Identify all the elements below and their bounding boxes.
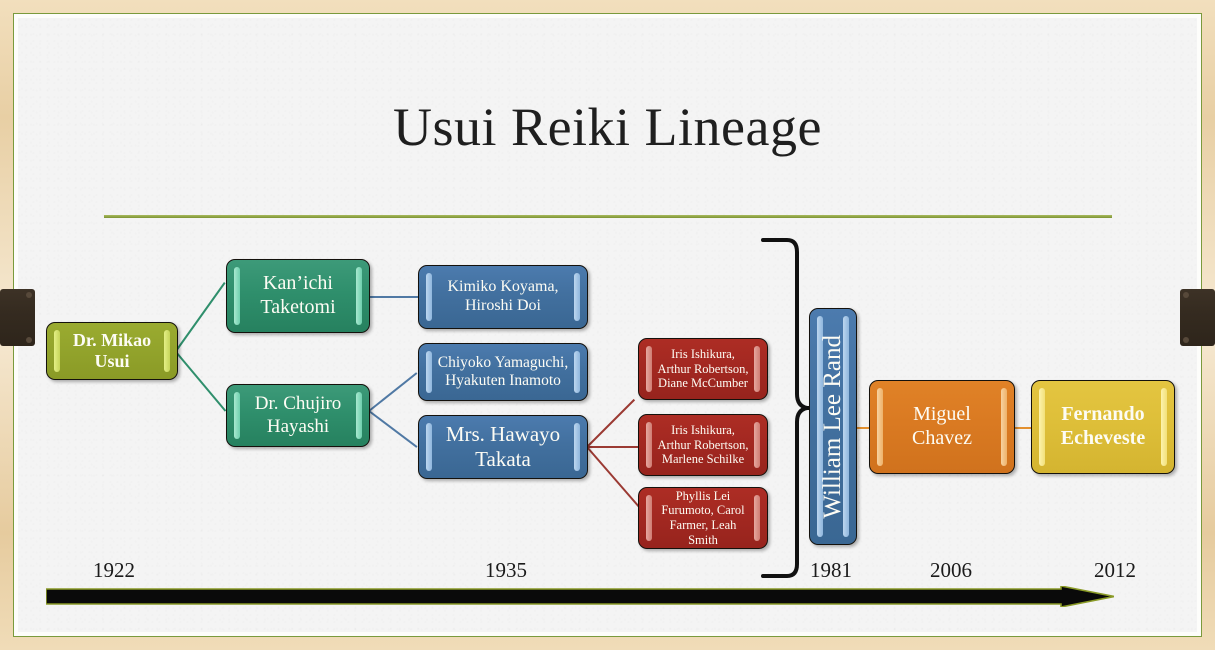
- node-takata-label: Mrs. HawayoTakata: [430, 422, 576, 472]
- node-echeveste-label: FernandoEcheveste: [1045, 403, 1161, 450]
- connector-takata-schilke: [587, 446, 639, 448]
- node-chavez-label: MiguelChavez: [896, 403, 988, 450]
- node-schilke[interactable]: Iris Ishikura,Arthur Robertson,Marlene S…: [638, 414, 768, 476]
- node-mccumber[interactable]: Iris Ishikura,Arthur Robertson,Diane McC…: [638, 338, 768, 400]
- node-taketomi-label: Kan’ichiTaketomi: [244, 272, 351, 319]
- timeline-date-2006: 2006: [930, 558, 972, 583]
- slide: Usui Reiki Lineage Dr. MikaoUsui Kan’ich…: [0, 0, 1215, 650]
- node-furumoto-label: Phyllis LeiFurumoto, CarolFarmer, Leah S…: [639, 489, 767, 548]
- ribbon-tab-right: [1180, 289, 1215, 346]
- node-koyama-doi[interactable]: Kimiko Koyama,Hiroshi Doi: [418, 265, 588, 329]
- timeline-date-1922: 1922: [93, 558, 135, 583]
- node-hayashi-label: Dr. ChujiroHayashi: [239, 393, 358, 438]
- node-usui[interactable]: Dr. MikaoUsui: [46, 322, 178, 380]
- node-taketomi[interactable]: Kan’ichiTaketomi: [226, 259, 370, 333]
- node-takata[interactable]: Mrs. HawayoTakata: [418, 415, 588, 479]
- node-mccumber-label: Iris Ishikura,Arthur Robertson,Diane McC…: [642, 347, 765, 391]
- node-furumoto[interactable]: Phyllis LeiFurumoto, CarolFarmer, Leah S…: [638, 487, 768, 549]
- node-chavez[interactable]: MiguelChavez: [869, 380, 1015, 474]
- node-rand[interactable]: William Lee Rand: [809, 308, 857, 545]
- node-usui-label: Dr. MikaoUsui: [57, 330, 167, 372]
- title-underline-rule: [104, 215, 1112, 218]
- timeline-date-1935: 1935: [485, 558, 527, 583]
- node-yamaguchi-inamoto[interactable]: Chiyoko Yamaguchi,Hyakuten Inamoto: [418, 343, 588, 401]
- timeline-arrow: [46, 586, 1114, 607]
- timeline-date-2012: 2012: [1094, 558, 1136, 583]
- node-yamaguchi-inamoto-label: Chiyoko Yamaguchi,Hyakuten Inamoto: [422, 354, 584, 391]
- timeline-date-1981: 1981: [810, 558, 852, 583]
- node-koyama-doi-label: Kimiko Koyama,Hiroshi Doi: [431, 278, 574, 316]
- node-schilke-label: Iris Ishikura,Arthur Robertson,Marlene S…: [642, 423, 765, 467]
- connector-taketomi-koyama: [369, 296, 419, 298]
- page-title: Usui Reiki Lineage: [0, 96, 1215, 158]
- node-hayashi[interactable]: Dr. ChujiroHayashi: [226, 384, 370, 447]
- node-rand-label: William Lee Rand: [818, 323, 848, 531]
- connector-chavez-echeveste: [1014, 427, 1032, 429]
- node-echeveste[interactable]: FernandoEcheveste: [1031, 380, 1175, 474]
- ribbon-tab-left: [0, 289, 35, 346]
